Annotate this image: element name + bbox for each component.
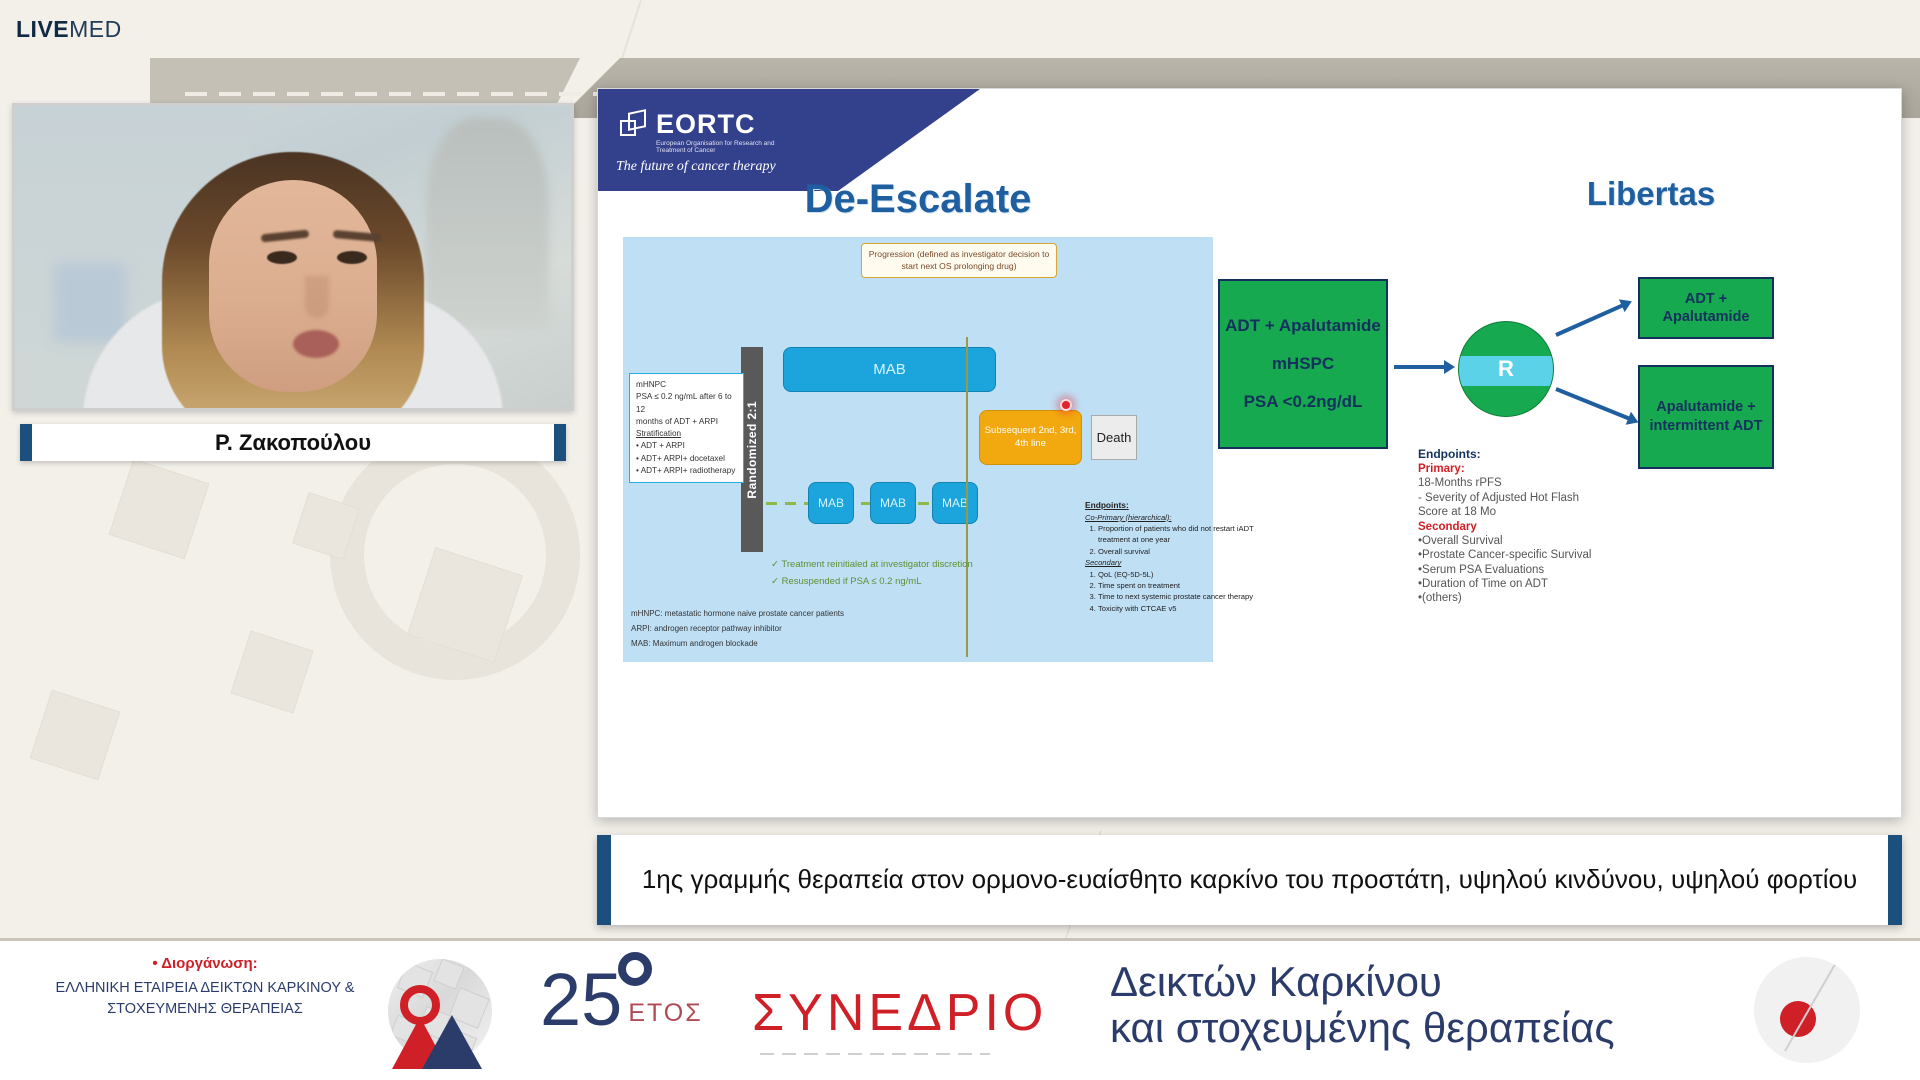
progression-marker-icon [1060, 399, 1072, 411]
congress-edition: 25 ΕΤΟΣ [540, 969, 731, 1032]
population-line-1: ADT + Apalutamide [1225, 316, 1381, 336]
logo-med-text: MED [69, 16, 122, 42]
libertas-primary-header: Primary: [1418, 462, 1603, 476]
organizer-society-name: ΕΛΛΗΝΙΚΗ ΕΤΑΙΡΕΙΑ ΔΕΙΚΤΩΝ ΚΑΡΚΙΝΟΥ & ΣΤΟ… [40, 978, 370, 1020]
randomization-circle: R [1458, 321, 1554, 417]
treatment-rule-2: ✓ Resuspended if PSA ≤ 0.2 ng/mL [771, 574, 973, 591]
deco-cube [110, 460, 208, 558]
mab-intermittent-box-3: MAB [932, 482, 978, 524]
libertas-primary-item: 18-Months rPFS [1418, 476, 1603, 490]
speaker-name: Ρ. Ζακοπούλου [215, 430, 371, 456]
population-line-3: PSA <0.2ng/dL [1244, 392, 1363, 412]
livemed-logo: LIVEMED [16, 16, 122, 43]
mab-continuous-box: MAB [783, 347, 996, 392]
deescalate-title: De-Escalate [638, 177, 1198, 222]
congress-emblem-logo [380, 957, 500, 1069]
event-footer: • Διοργάνωση: ΕΛΛΗΝΙΚΗ ΕΤΑΙΡΕΙΑ ΔΕΙΚΤΩΝ … [0, 938, 1920, 1080]
criteria-line-7: • ADT+ ARPI+ radiotherapy [636, 465, 737, 477]
arrow-to-arm-1 [1555, 303, 1624, 337]
congress-word: ΣΥΝΕΔΡΙΟ [752, 983, 1047, 1043]
speaker-video-panel[interactable] [12, 103, 574, 411]
secondary-header: Secondary [1085, 558, 1121, 567]
death-box: Death [1091, 415, 1137, 460]
degree-circle-icon [618, 952, 652, 986]
libertas-secondary-item: •Duration of Time on ADT [1418, 577, 1603, 591]
libertas-arm-2-box: Apalutamide + intermittent ADT [1638, 365, 1774, 469]
organizer-block: • Διοργάνωση: ΕΛΛΗΝΙΚΗ ΕΤΑΙΡΕΙΑ ΔΕΙΚΤΩΝ … [40, 955, 370, 1020]
randomization-bar: Randomized 2:1 [741, 347, 763, 552]
eligibility-criteria-box: mHNPC PSA ≤ 0.2 ng/mL after 6 to 12 mont… [629, 373, 744, 483]
co-primary-header: Co-Primary (hierarchical): [1085, 513, 1172, 522]
speaker-face [209, 180, 377, 392]
logo-live-text: LIVE [16, 16, 69, 42]
libertas-population-box: ADT + Apalutamide mHSPC PSA <0.2ng/dL [1218, 279, 1388, 449]
population-line-2: mHSPC [1272, 354, 1334, 374]
criteria-stratification-header: Stratification [636, 428, 737, 440]
congress-title: Δεικτών Καρκίνου και στοχευμένης θεραπεί… [1110, 959, 1615, 1051]
deco-cube [232, 632, 313, 713]
libertas-endpoints: Endpoints: Primary: 18-Months rPFS - Sev… [1418, 447, 1603, 606]
video-background-panel [54, 263, 126, 342]
eortc-cube-icon [620, 111, 650, 141]
organizer-label: • Διοργάνωση: [40, 955, 370, 972]
criteria-line-3: months of ADT + ARPI [636, 416, 737, 428]
presentation-viewer: LIVEMED Ρ. Ζακοπούλου EORTC Europe [0, 0, 1920, 1080]
slide-canvas[interactable]: EORTC European Organisation for Research… [597, 88, 1902, 818]
progression-vertical-line [966, 337, 968, 657]
arrow-to-arm-2 [1555, 387, 1631, 421]
progression-box: Progression (defined as investigator dec… [861, 243, 1057, 278]
deco-dashes [185, 92, 615, 96]
treatment-rule-1: ✓ Treatment reinitialed at investigator … [771, 557, 973, 574]
libertas-secondary-item: •Overall Survival [1418, 534, 1603, 548]
mab-intermittent-box-2: MAB [870, 482, 916, 524]
video-background-door [426, 118, 548, 329]
libertas-title: Libertas [1491, 175, 1811, 213]
speaker-video-feed[interactable] [15, 106, 571, 408]
slide-caption-bar: 1ης γραμμής θεραπεία στον ορμονο-ευαίσθη… [597, 835, 1902, 925]
criteria-line-1: mHNPC [636, 379, 737, 391]
congress-title-line-2: και στοχευμένης θεραπείας [1110, 1005, 1615, 1051]
treatment-rules: ✓ Treatment reinitialed at investigator … [771, 557, 973, 590]
libertas-arm-1-box: ADT + Apalutamide [1638, 277, 1774, 339]
deescalate-diagram: Progression (defined as investigator dec… [623, 237, 1213, 662]
mab-intermittent-box-1: MAB [808, 482, 854, 524]
eortc-name: EORTC [656, 111, 788, 138]
edition-word: ΕΤΟΣ [628, 999, 702, 1028]
randomization-letter: R [1498, 356, 1514, 382]
libertas-primary-item: - Severity of Adjusted Hot Flash Score a… [1418, 491, 1603, 520]
criteria-line-6: • ADT+ ARPI+ docetaxel [636, 453, 737, 465]
criteria-line-5: • ADT + ARPI [636, 440, 737, 452]
congress-title-line-1: Δεικτών Καρκίνου [1110, 959, 1615, 1005]
footer-decoration [1754, 957, 1860, 1063]
emblem-triangle-blue [422, 1015, 482, 1069]
slide-caption-text: 1ης γραμμής θεραπεία στον ορμονο-ευαίσθη… [642, 862, 1857, 897]
libertas-diagram: ADT + Apalutamide mHSPC PSA <0.2ng/dL R … [1218, 269, 1878, 689]
speaker-mouth [293, 330, 339, 358]
edition-number: 25 [540, 969, 622, 1032]
deco-cube [31, 691, 119, 779]
randomization-label: Randomized 2:1 [745, 401, 759, 499]
libertas-endpoints-header: Endpoints: [1418, 447, 1603, 462]
abbreviation-3: MAB: Maximum androgen blockade [631, 637, 844, 652]
speaker-eye-left [267, 251, 297, 264]
libertas-secondary-header: Secondary [1418, 520, 1603, 534]
intermittent-dashed-line [766, 502, 956, 505]
abbreviation-1: mHNPC: metastatic hormone naive prostate… [631, 607, 844, 622]
eortc-subtitle: European Organisation for Research and T… [656, 140, 788, 155]
libertas-secondary-item: •Serum PSA Evaluations [1418, 563, 1603, 577]
congress-word-underline [760, 1053, 990, 1055]
speaker-eye-right [337, 251, 367, 264]
arrow-to-randomization [1394, 365, 1446, 369]
libertas-secondary-item: •(others) [1418, 591, 1603, 605]
endpoints-header: Endpoints: [1085, 500, 1129, 510]
eortc-tagline: The future of cancer therapy [616, 159, 776, 175]
subsequent-therapy-box: Subsequent 2nd, 3rd, 4th line [979, 410, 1082, 465]
criteria-line-2: PSA ≤ 0.2 ng/mL after 6 to 12 [636, 391, 737, 416]
eortc-logo: EORTC European Organisation for Research… [620, 111, 788, 155]
speaker-nose [305, 276, 329, 318]
libertas-secondary-item: •Prostate Cancer-specific Survival [1418, 548, 1603, 562]
abbreviations-block: mHNPC: metastatic hormone naive prostate… [631, 607, 844, 651]
abbreviation-2: ARPI: androgen receptor pathway inhibito… [631, 622, 844, 637]
speaker-name-bar: Ρ. Ζακοπούλου [20, 424, 566, 461]
